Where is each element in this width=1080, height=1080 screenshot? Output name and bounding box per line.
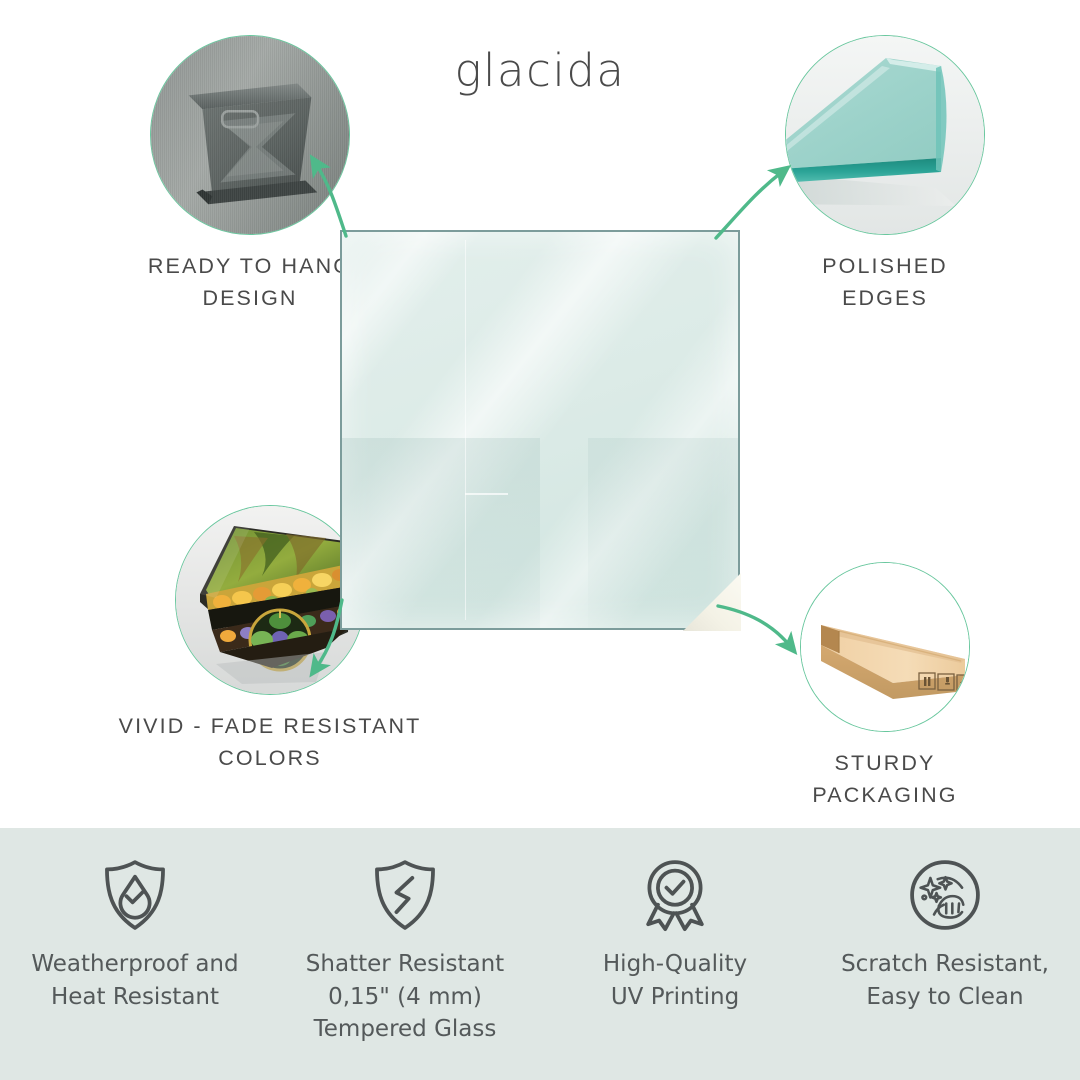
benefit-scratch-resistant-text: Scratch Resistant, Easy to Clean [841,948,1049,1013]
glass-shade-left [342,438,540,628]
benefit-scratch-resistant: Scratch Resistant, Easy to Clean [810,856,1080,1013]
bracket-shape-icon [151,36,349,234]
benefit-uv-printing: High-Quality UV Printing [540,856,810,1013]
polished-edges-image [785,35,985,235]
benefit-uv-printing-text: High-Quality UV Printing [603,948,747,1013]
stained-glass-pattern-icon [176,506,365,695]
polished-edges-caption: POLISHED EDGES [785,251,985,315]
sturdy-packaging-caption: STURDY PACKAGING [785,748,985,812]
glass-reflection-seam-horizontal [465,493,509,495]
vivid-colors-caption: VIVID - FADE RESISTANT COLORS [70,711,470,775]
glass-edge-closeup-photo [786,36,984,234]
wall-mount-bracket-photo [151,36,349,234]
feature-polished-edges: POLISHED EDGES [785,35,985,315]
glass-reflection-seam [465,240,467,620]
benefit-shatter-resistant: Shatter Resistant 0,15" (4 mm) Tempered … [270,856,540,1046]
ready-to-hang-image [150,35,350,235]
benefit-shatter-resistant-text: Shatter Resistant 0,15" (4 mm) Tempered … [306,948,504,1046]
vivid-colors-image [175,505,365,695]
cardboard-box-photo [801,563,969,731]
cardboard-box-icon [801,563,970,732]
benefit-weatherproof: Weatherproof and Heat Resistant [0,856,270,1013]
sturdy-packaging-image [800,562,970,732]
glass-corner-shape-icon [786,36,985,235]
shield-crack-icon [366,856,444,934]
arrow-to-polished-edges [716,172,782,238]
feature-sturdy-packaging: STURDY PACKAGING [785,562,985,812]
shield-droplet-check-icon [96,856,174,934]
stained-glass-artwork-photo [176,506,364,694]
benefit-weatherproof-text: Weatherproof and Heat Resistant [31,948,238,1013]
infographic-canvas: glacida [0,0,1080,1080]
center-glass-panel [340,230,740,630]
sparkle-wipe-hand-icon [906,856,984,934]
benefits-band: Weatherproof and Heat Resistant Shatter … [0,828,1080,1080]
award-ribbon-check-icon [636,856,714,934]
glass-surface [340,230,740,630]
